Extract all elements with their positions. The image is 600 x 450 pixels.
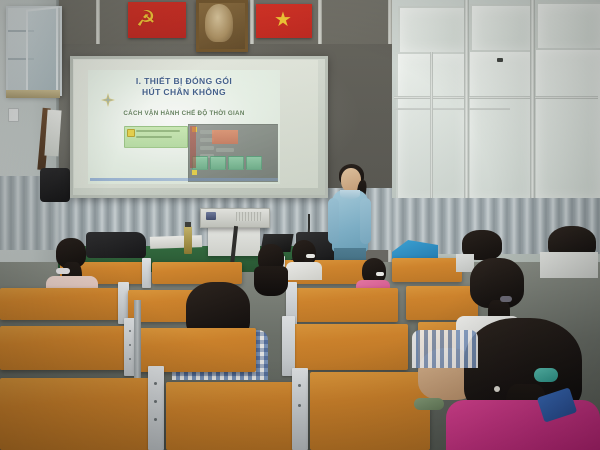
bench-bracket [142,258,151,288]
student-body [540,252,598,278]
bracket-bolt [298,384,301,387]
bracket-bolt [154,400,157,403]
panel-label [216,148,234,152]
cabinet-base [6,90,60,98]
bench-bracket [282,316,295,376]
dark-equipment-left [40,168,70,202]
panel-label [200,146,214,150]
bench-back [0,378,150,450]
panel-button [228,156,244,170]
instructor-arm [328,198,339,244]
bench-back [152,262,242,284]
bench-bracket [292,368,308,450]
window-frame [430,52,433,202]
earring-icon [494,386,500,392]
glass-pane [534,48,600,202]
student-body [446,400,600,450]
bench-back [406,286,478,320]
bench-back [292,324,408,370]
projector-vent [236,212,262,221]
slide-subtitle: CÁCH VẬN HÀNH CHẾ ĐỘ THỜI GIAN [96,110,272,117]
hair-tie [534,368,558,382]
window-latch-icon[interactable] [497,58,503,62]
bench-back [0,288,120,320]
bracelet [414,398,444,410]
instructor-arm [360,198,371,244]
glass-pane [398,6,468,54]
hair-tie [56,268,70,274]
hair-tie [376,272,384,276]
slide-title-line1: I. THIẾT BỊ ĐÓNG GÓI [96,76,272,87]
panel-marker-icon [192,170,197,175]
slide-footer-bar [90,178,278,181]
glass-pane [468,50,534,204]
bench-back [392,258,462,282]
panel-display [212,130,238,144]
panel-side-strip [190,126,196,168]
power-outlet[interactable] [8,108,19,122]
student-body [286,262,322,280]
bench-back [310,372,430,450]
bracket-bolt [154,382,157,385]
panel-button [210,156,226,170]
slide-title: I. THIẾT BỊ ĐÓNG GÓI HÚT CHÂN KHÔNG [96,76,272,98]
window-frame [464,0,469,212]
bench-bracket [148,366,164,450]
bottle-cap [185,222,191,227]
callout-text-line [136,136,172,138]
dark-bag [86,232,146,258]
slide-callout-bullet-icon [127,129,135,137]
bench-back [294,288,398,322]
bracket-bolt [298,404,301,407]
papers-stack [150,235,202,249]
cabinet-glass-door[interactable] [26,6,58,95]
student-body [412,330,478,368]
bracket-bolt [129,358,131,360]
bench-back [166,382,294,450]
hair-tie [500,296,512,302]
yellow-star-icon: ★ [272,10,294,32]
glass-pane [470,4,534,54]
bottle [184,226,192,254]
hair-tie [306,254,315,258]
instructor-collar [340,190,360,199]
window-frame [530,0,535,210]
panel-button [246,156,262,170]
window-frame [394,108,510,110]
hammer-sickle-icon: ☭ [136,8,166,32]
window-frame [394,96,598,99]
glass-pane [536,2,600,54]
bracket-bolt [154,418,157,421]
callout-text-line [136,130,180,132]
bench-leg [134,300,141,378]
student-hair-long [254,266,288,296]
bench-back [0,326,126,370]
student-body [456,254,474,272]
ho-chi-minh-bust-icon [205,4,233,42]
bracket-bolt [129,330,131,332]
bracket-bolt [129,344,131,346]
slide-title-line2: HÚT CHÂN KHÔNG [96,87,272,98]
classroom-photo: ☭ ★ I. THIẾT BỊ ĐÓNG GÓI HÚT CHÂN KHÔNG … [0,0,600,450]
projector-lens-icon [206,212,216,220]
